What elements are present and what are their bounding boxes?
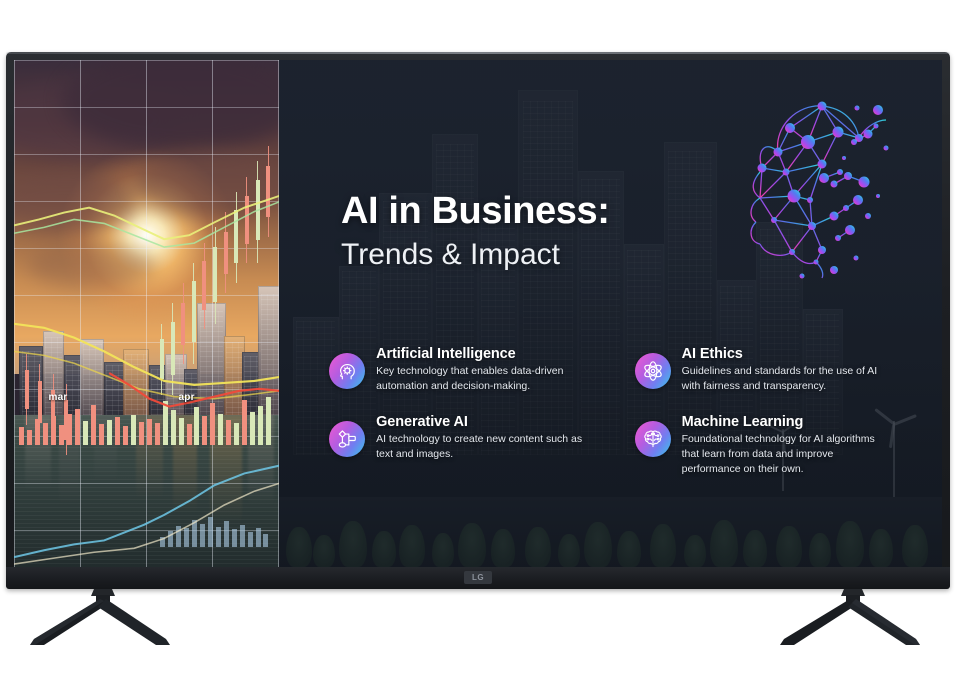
feature-description: Key technology that enables data-driven … [376, 364, 588, 394]
tv-bezel: mar apr [6, 52, 950, 589]
feature-title: Artificial Intelligence [376, 346, 588, 362]
slide-title-block: AI in Business: Trends & Impact [341, 192, 610, 270]
tv-bottom-bezel: LG [6, 567, 950, 589]
presentation-slide: AI in Business: Trends & Impact [279, 60, 942, 567]
axis-label-mar: mar [49, 392, 68, 403]
television-unit: mar apr [6, 52, 950, 589]
feature-artificial-intelligence[interactable]: Artificial Intelligence Key technology t… [329, 346, 617, 394]
tv-stand-leg-left [28, 589, 178, 647]
trend-lines [14, 60, 279, 567]
atom-icon [635, 353, 671, 389]
feature-description: AI technology to create new content such… [376, 432, 588, 462]
axis-label-apr: apr [179, 392, 195, 403]
tv-screen: mar apr [14, 60, 942, 567]
feature-generative-ai[interactable]: Generative AI AI technology to create ne… [329, 414, 617, 477]
feature-grid: Artificial Intelligence Key technology t… [329, 346, 922, 477]
feature-title: Machine Learning [682, 414, 894, 430]
lg-logo: LG [464, 571, 492, 584]
feature-text: Generative AI AI technology to create ne… [376, 414, 588, 462]
feature-text: Artificial Intelligence Key technology t… [376, 346, 588, 394]
ai-brain-network-graphic [726, 80, 906, 280]
feature-description: Guidelines and standards for the use of … [682, 364, 894, 394]
screenshot-stage: mar apr [0, 0, 956, 700]
feature-title: AI Ethics [682, 346, 894, 362]
flowchart-icon [329, 421, 365, 457]
brain-circuit-icon [635, 421, 671, 457]
tv-stand-leg-right [778, 589, 928, 647]
feature-description: Foundational technology for AI algorithm… [682, 432, 894, 477]
feature-ai-ethics[interactable]: AI Ethics Guidelines and standards for t… [635, 346, 923, 394]
tv-inner-frame: mar apr [14, 60, 942, 567]
stock-market-cityscape-panel: mar apr [14, 60, 279, 567]
feature-text: Machine Learning Foundational technology… [682, 414, 894, 477]
feature-text: AI Ethics Guidelines and standards for t… [682, 346, 894, 394]
page-subtitle: Trends & Impact [341, 239, 610, 271]
feature-title: Generative AI [376, 414, 588, 430]
page-title: AI in Business: [341, 192, 610, 231]
feature-machine-learning[interactable]: Machine Learning Foundational technology… [635, 414, 923, 477]
head-gear-icon [329, 353, 365, 389]
